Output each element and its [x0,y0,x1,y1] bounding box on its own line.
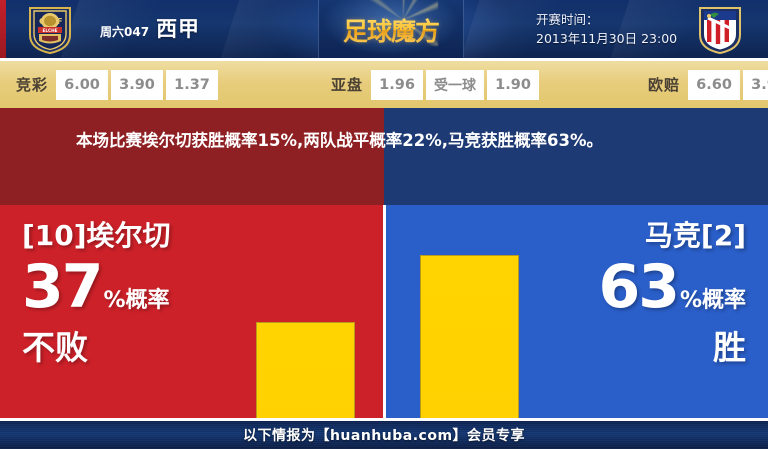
away-percent-value: 63 [598,259,678,315]
headline-band-right [384,108,768,205]
footer-text: 以下情报为【huanhuba.com】会员专享 [243,425,525,445]
odds-group-label: 竞彩 [14,74,56,95]
home-team-name: [10]埃尔切 [22,219,171,253]
home-team-stats: [10]埃尔切 37 %概率 不败 [22,219,171,367]
odds-value[interactable]: 1.96 [371,70,423,100]
odds-value[interactable]: 1.90 [487,70,539,100]
odds-group-label: 亚盘 [329,74,371,95]
away-team-stats: 马竞[2] 63 %概率 胜 [598,219,746,367]
home-percent-row: 37 %概率 [22,259,171,315]
odds-value[interactable]: 6.60 [688,70,740,100]
kickoff-info: 开赛时间： 2013年11月30日 23:00 [536,10,677,48]
card-header: C F ELCHE 周六047 西甲 足球魔方 开赛时间： 2013年11月30… [0,0,768,58]
away-verdict: 胜 [598,329,746,367]
away-percent-unit: %概率 [680,290,746,312]
svg-text:C: C [39,17,45,26]
brand-logo-text: 足球魔方 [332,14,450,46]
away-probability-bar [420,255,519,418]
svg-text:ELCHE: ELCHE [43,28,58,33]
home-team-crest-icon: C F ELCHE [26,5,74,55]
header-red-edge [0,0,6,58]
odds-value[interactable]: 3.90 [111,70,163,100]
odds-group-yapan: 亚盘 1.96 受一球 1.90 [329,70,542,100]
odds-value[interactable]: 6.00 [56,70,108,100]
kickoff-label: 开赛时间： [536,10,677,29]
odds-value[interactable]: 1.37 [166,70,218,100]
odds-group-jingcai: 竞彩 6.00 3.90 1.37 [14,70,221,100]
panel-divider [383,205,386,418]
headline-summary: 本场比赛埃尔切获胜概率15%,两队战平概率22%,马竞获胜概率63%。 [76,126,701,155]
match-meta: 周六047 西甲 [100,13,200,43]
odds-group-label: 欧赔 [646,74,688,95]
home-verdict: 不败 [22,329,171,367]
svg-text:F: F [57,17,62,26]
match-round-label: 周六047 [100,23,149,40]
odds-handicap-value[interactable]: 受一球 [426,70,484,100]
odds-bar: 竞彩 6.00 3.90 1.37 亚盘 1.96 受一球 1.90 欧赔 6.… [0,58,768,108]
headline-band [0,108,768,205]
away-team-crest-icon [696,5,744,55]
home-probability-bar [256,322,355,418]
kickoff-value: 2013年11月30日 23:00 [536,29,677,48]
match-prediction-card: C F ELCHE 周六047 西甲 足球魔方 开赛时间： 2013年11月30… [0,0,768,449]
home-percent-unit: %概率 [104,290,170,312]
away-team-panel: 马竞[2] 63 %概率 胜 [384,205,768,418]
home-team-panel: [10]埃尔切 37 %概率 不败 [0,205,384,418]
home-percent-value: 37 [22,259,102,315]
footer-banner: 以下情报为【huanhuba.com】会员专享 [0,418,768,449]
odds-group-oupei: 欧赔 6.60 3.90 1.51 [646,70,768,100]
headline-band-left [0,108,384,205]
away-percent-row: 63 %概率 [598,259,746,315]
league-name: 西甲 [156,13,200,43]
odds-value[interactable]: 3.90 [743,70,768,100]
away-team-name: 马竞[2] [598,219,746,253]
